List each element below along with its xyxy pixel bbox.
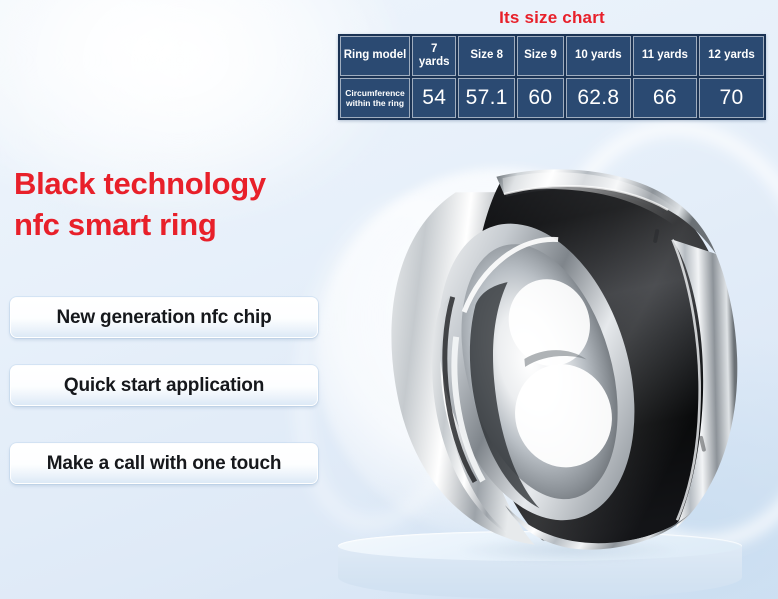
header-cell-ring-model: Ring model xyxy=(340,36,410,76)
header-cell-size-2: Size 9 xyxy=(517,36,564,76)
header-cell-size-4: 11 yards xyxy=(633,36,697,76)
value-cell-0: 54 xyxy=(412,78,456,118)
feature-pill-new-generation-nfc-chip[interactable]: New generation nfc chip xyxy=(10,297,318,338)
value-cell-4: 66 xyxy=(633,78,697,118)
feature-pill-label: Quick start application xyxy=(64,375,264,397)
header-cell-size-0-line1: 7 xyxy=(431,43,437,55)
header-cell-size-1: Size 8 xyxy=(458,36,515,76)
product-banner: Its size chart Ring model 7 yards Size 8… xyxy=(0,0,778,599)
ring-illustration xyxy=(355,133,761,574)
header-cell-size-5: 12 yards xyxy=(699,36,764,76)
table-row-circumference: Circumference within the ring 54 57.1 60… xyxy=(340,78,764,118)
size-chart-title: Its size chart xyxy=(338,8,766,28)
ring-body xyxy=(377,154,753,566)
feature-pill-label: Make a call with one touch xyxy=(47,453,281,475)
size-chart-table: Ring model 7 yards Size 8 Size 9 10 yard… xyxy=(338,34,766,120)
product-image-nfc-smart-ring xyxy=(372,148,744,558)
feature-pill-quick-start-application[interactable]: Quick start application xyxy=(10,365,318,406)
headline-line-2: nfc smart ring xyxy=(14,204,364,245)
value-cell-3: 62.8 xyxy=(566,78,631,118)
row-label-circumference: Circumference within the ring xyxy=(340,78,410,118)
header-cell-size-0-line2: yards xyxy=(419,56,450,68)
value-cell-2: 60 xyxy=(517,78,564,118)
size-chart: Its size chart Ring model 7 yards Size 8… xyxy=(338,8,766,120)
feature-pill-make-a-call-with-one-touch[interactable]: Make a call with one touch xyxy=(10,443,318,484)
row-label-circumference-line1: Circumference xyxy=(345,88,405,98)
value-cell-5: 70 xyxy=(699,78,764,118)
table-row-header: Ring model 7 yards Size 8 Size 9 10 yard… xyxy=(340,36,764,76)
feature-pill-label: New generation nfc chip xyxy=(57,307,272,329)
value-cell-1: 57.1 xyxy=(458,78,515,118)
header-cell-size-0: 7 yards xyxy=(412,36,456,76)
row-label-circumference-line2: within the ring xyxy=(346,98,404,108)
header-cell-size-3: 10 yards xyxy=(566,36,631,76)
headline-line-1: Black technology xyxy=(14,163,364,204)
page-title: Black technology nfc smart ring xyxy=(14,163,364,245)
